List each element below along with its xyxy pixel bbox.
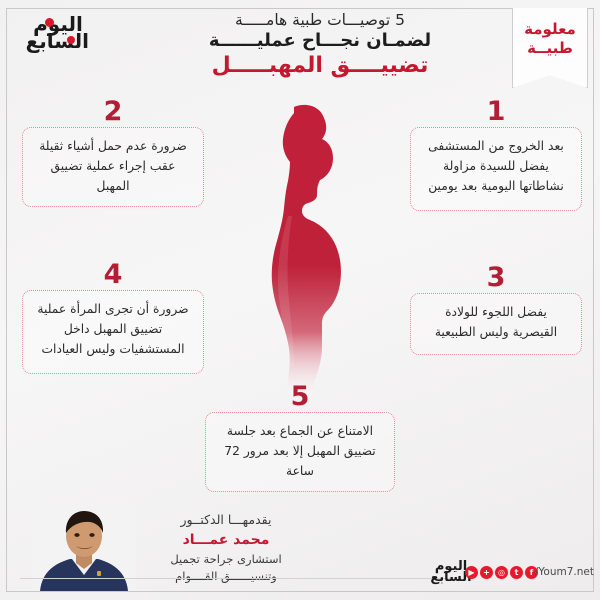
logo-dot-secondary-icon	[67, 36, 75, 44]
infographic-page: اليوم السابع 5 توصيـــات طبية هامـــــة …	[0, 0, 600, 600]
page-title: 5 توصيـــات طبية هامـــــة لضمـان نجـــا…	[150, 12, 490, 78]
instagram-icon[interactable]: ◎	[495, 566, 508, 579]
title-line-2: لضمـان نجـــاح عمليــــــة	[150, 31, 490, 52]
tip-text-5: الامتناع عن الجماع بعد جلسة تضييق المهبل…	[216, 422, 384, 482]
ribbon-line-2: طبيــة	[513, 39, 587, 58]
footer-credit: يقدمهـــا الدكتــور محمد عمـــاد استشارى…	[148, 512, 304, 585]
youm7-logo: اليوم السابع	[27, 14, 89, 54]
tip-text-3: يفضل اللجوء للولادة القيصرية وليس الطبيع…	[421, 303, 571, 343]
tip-box-1: 1 بعد الخروج من المستشفى يفضل للسيدة مزا…	[410, 127, 582, 211]
doctor-specialty-line-1: استشارى جراحة تجميل	[148, 552, 304, 568]
tip-number-3: 3	[411, 264, 581, 291]
google-plus-icon[interactable]: +	[480, 566, 493, 579]
title-line-3: تضييــــق المهبـــــل	[150, 53, 490, 79]
tip-box-3: 3 يفضل اللجوء للولادة القيصرية وليس الطب…	[410, 293, 582, 355]
tip-box-2: 2 ضرورة عدم حمل أشياء ثقيلة عقب إجراء عم…	[22, 127, 204, 207]
logo-line-2: السابع	[27, 31, 89, 51]
tip-text-4: ضرورة أن تجرى المرأة عملية تضييق المهبل …	[33, 300, 193, 360]
logo-dot-icon	[45, 18, 54, 27]
social-handle[interactable]: /Youm7.net	[535, 566, 594, 578]
female-body-silhouette-icon	[232, 96, 372, 396]
twitter-icon[interactable]: t	[510, 566, 523, 579]
tip-box-4: 4 ضرورة أن تجرى المرأة عملية تضييق المهب…	[22, 290, 204, 374]
ribbon-line-1: معلومة	[513, 20, 587, 39]
medical-info-ribbon: معلومة طبيــة	[512, 8, 588, 88]
tip-number-1: 1	[411, 98, 581, 125]
social-icons-row: f t ◎ + ▶	[465, 566, 538, 579]
youtube-icon[interactable]: ▶	[465, 566, 478, 579]
tip-number-5: 5	[206, 383, 394, 410]
title-line-1: 5 توصيـــات طبية هامـــــة	[150, 12, 490, 30]
tip-number-4: 4	[23, 261, 203, 288]
tip-text-1: بعد الخروج من المستشفى يفضل للسيدة مزاول…	[421, 137, 571, 197]
tip-box-5: 5 الامتناع عن الجماع بعد جلسة تضييق المه…	[205, 412, 395, 492]
presenter-label: يقدمهـــا الدكتــور	[148, 512, 304, 529]
doctor-name: محمد عمـــاد	[148, 531, 304, 550]
tip-number-2: 2	[23, 98, 203, 125]
footer-divider	[20, 578, 450, 579]
tip-text-2: ضرورة عدم حمل أشياء ثقيلة عقب إجراء عملي…	[33, 137, 193, 197]
